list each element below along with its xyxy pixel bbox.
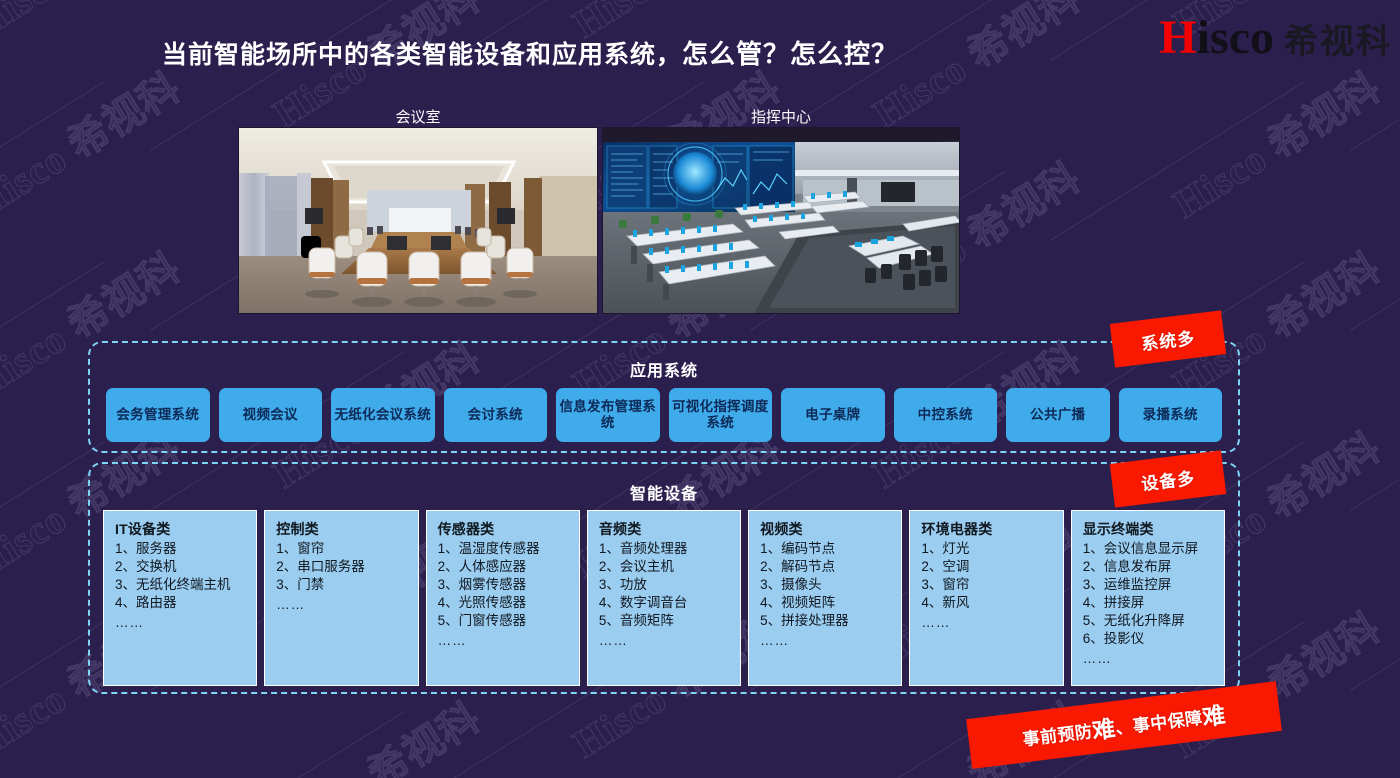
device-item: 5、拼接处理器 [760,612,894,630]
page-title-normal: 当前智能场所中的各类智能设备和应用系统， [162,41,682,69]
command-center-photo [602,127,960,314]
device-list-ellipsis: …… [115,615,249,630]
device-list-ellipsis: …… [276,597,410,612]
device-item: 1、服务器 [115,540,249,558]
watermark-line [0,81,105,241]
app-chip-7[interactable]: 中控系统 [894,388,998,442]
device-item: 1、灯光 [921,540,1055,558]
device-item: 4、数字调音台 [599,594,733,612]
logo-letter-h: H [1159,14,1196,62]
smart-devices-title: 智能设备 [90,480,1238,504]
app-chip-2[interactable]: 无纸化会议系统 [331,388,435,442]
device-item: 4、新风 [921,594,1055,612]
app-chip-8[interactable]: 公共广播 [1006,388,1110,442]
app-chip-4[interactable]: 信息发布管理系统 [556,388,660,442]
device-item: 1、窗帘 [276,540,410,558]
watermark-line [1350,711,1400,778]
smart-devices-columns: IT设备类 1、服务器 2、交换机 3、无纸化终端主机 4、路由器 …… 控制类… [103,510,1225,686]
page-title-strong: 怎么管？怎么控？ [682,39,898,69]
tag-difficulty-seg2: 、事中保障 [1114,703,1204,738]
watermark-line [1350,171,1400,331]
device-item-list: 1、编码节点 2、解码节点 3、摄像头 4、视频矩阵 5、拼接处理器 [760,540,894,630]
device-item: 4、拼接屏 [1083,594,1217,612]
photo-caption-command-center: 指挥中心 [602,106,960,127]
device-column-environment: 环境电器类 1、灯光 2、空调 3、窗帘 4、新风 …… [909,510,1063,686]
app-chip-5[interactable]: 可视化指挥调度系统 [669,388,773,442]
device-column-title: IT设备类 [115,519,249,539]
device-column-sensor: 传感器类 1、温湿度传感器 2、人体感应器 3、烟雾传感器 4、光照传感器 5、… [426,510,580,686]
device-item: 3、功放 [599,576,733,594]
watermark-text: Hisco 希视科 [1160,56,1390,229]
device-item: 2、串口服务器 [276,558,410,576]
device-item: 1、会议信息显示屏 [1083,540,1217,558]
device-column-video: 视频类 1、编码节点 2、解码节点 3、摄像头 4、视频矩阵 5、拼接处理器 …… [748,510,902,686]
device-column-title: 环境电器类 [921,519,1055,539]
device-item: 6、投影仪 [1083,630,1217,648]
device-column-title: 显示终端类 [1083,519,1217,539]
conference-room-illustration [239,128,598,314]
tag-difficulty-big2: 难 [1200,696,1227,733]
tag-difficulty-banner: 事前预防难、事中保障难 [966,681,1282,769]
device-item: 2、空调 [921,558,1055,576]
brand-logo: Hisco 希视科 [1159,14,1392,62]
device-list-ellipsis: …… [1083,651,1217,666]
device-column-audio: 音频类 1、音频处理器 2、会议主机 3、功放 4、数字调音台 5、音频矩阵 …… [587,510,741,686]
device-item: 3、无纸化终端主机 [115,576,249,594]
device-list-ellipsis: …… [921,615,1055,630]
watermark-line [1050,81,1305,241]
device-item-list: 1、音频处理器 2、会议主机 3、功放 4、数字调音台 5、音频矩阵 [599,540,733,630]
app-chip-9[interactable]: 录播系统 [1119,388,1223,442]
device-item: 2、会议主机 [599,558,733,576]
page-title: 当前智能场所中的各类智能设备和应用系统，怎么管？怎么控？ [0,34,1060,71]
device-item: 4、光照传感器 [438,594,572,612]
command-center-illustration [603,128,960,314]
device-item-list: 1、窗帘 2、串口服务器 3、门禁 [276,540,410,594]
application-systems-panel: 应用系统 会务管理系统 视频会议 无纸化会议系统 会讨系统 信息发布管理系统 可… [88,341,1240,453]
device-item-list: 1、温湿度传感器 2、人体感应器 3、烟雾传感器 4、光照传感器 5、门窗传感器 [438,540,572,630]
device-item: 5、音频矩阵 [599,612,733,630]
device-item: 3、摄像头 [760,576,894,594]
device-item: 2、交换机 [115,558,249,576]
device-item: 2、信息发布屏 [1083,558,1217,576]
logo-letters-isco: isco [1197,14,1274,62]
app-chip-6[interactable]: 电子桌牌 [781,388,885,442]
device-item: 3、烟雾传感器 [438,576,572,594]
app-chip-1[interactable]: 视频会议 [219,388,323,442]
watermark-text: Hisco 希视科 [260,686,490,778]
device-column-display: 显示终端类 1、会议信息显示屏 2、信息发布屏 3、运维监控屏 4、拼接屏 5、… [1071,510,1225,686]
device-item-list: 1、服务器 2、交换机 3、无纸化终端主机 4、路由器 [115,540,249,612]
device-item: 2、解码节点 [760,558,894,576]
application-systems-list: 会务管理系统 视频会议 无纸化会议系统 会讨系统 信息发布管理系统 可视化指挥调… [106,388,1222,442]
photo-caption-meeting-room: 会议室 [238,106,598,127]
device-column-control: 控制类 1、窗帘 2、串口服务器 3、门禁 …… [264,510,418,686]
device-item: 3、窗帘 [921,576,1055,594]
device-list-ellipsis: …… [599,633,733,648]
app-chip-0[interactable]: 会务管理系统 [106,388,210,442]
device-item: 3、运维监控屏 [1083,576,1217,594]
conference-room-photo [238,127,598,314]
device-item: 3、门禁 [276,576,410,594]
device-item-list: 1、灯光 2、空调 3、窗帘 4、新风 [921,540,1055,612]
device-column-title: 传感器类 [438,519,572,539]
device-item: 4、路由器 [115,594,249,612]
device-list-ellipsis: …… [760,633,894,648]
device-item: 1、音频处理器 [599,540,733,558]
watermark-line [150,711,405,778]
watermark-line [1350,531,1400,691]
device-column-title: 控制类 [276,519,410,539]
device-item: 5、无纸化升降屏 [1083,612,1217,630]
device-column-it: IT设备类 1、服务器 2、交换机 3、无纸化终端主机 4、路由器 …… [103,510,257,686]
device-item: 2、人体感应器 [438,558,572,576]
device-column-title: 视频类 [760,519,894,539]
watermark-text: Hisco 希视科 [0,56,190,229]
device-item: 1、温湿度传感器 [438,540,572,558]
logo-chinese-name: 希视科 [1284,26,1392,60]
app-chip-3[interactable]: 会讨系统 [444,388,548,442]
application-systems-title: 应用系统 [90,357,1238,381]
device-item: 1、编码节点 [760,540,894,558]
device-item: 5、门窗传感器 [438,612,572,630]
device-item: 4、视频矩阵 [760,594,894,612]
device-item-list: 1、会议信息显示屏 2、信息发布屏 3、运维监控屏 4、拼接屏 5、无纸化升降屏… [1083,540,1217,648]
device-column-title: 音频类 [599,519,733,539]
device-list-ellipsis: …… [438,633,572,648]
tag-difficulty-seg1: 事前预防 [1021,717,1094,750]
smart-devices-panel: 智能设备 IT设备类 1、服务器 2、交换机 3、无纸化终端主机 4、路由器 …… [88,462,1240,694]
watermark-line [1350,351,1400,511]
